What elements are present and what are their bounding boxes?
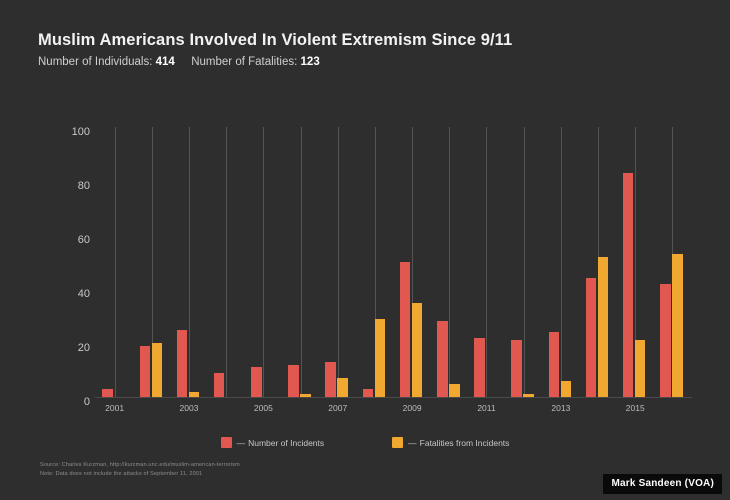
bar-2012-incidents[interactable] [511,340,522,397]
chart-canvas: Muslim Americans Involved In Violent Ext… [0,0,730,500]
x-axis-tick-2003: 2003 [180,404,199,413]
y-axis-tick-80: 80 [78,181,90,192]
y-axis-tick-100: 100 [72,127,90,138]
bar-2013-incidents[interactable] [549,332,560,397]
y-axis-tick-20: 20 [78,343,90,354]
bar-2010-fatalities[interactable] [449,384,460,398]
chart-legend: — Number of Incidents — Fatalities from … [0,437,730,448]
bar-2016-fatalities[interactable] [672,254,683,397]
x-axis-tick-2005: 2005 [254,404,273,413]
x-axis-tick-2007: 2007 [328,404,347,413]
x-axis-tick-2015: 2015 [626,404,645,413]
bar-2009-fatalities[interactable] [412,303,423,398]
source-note: Source: Charles Kurzman, http://kurzman.… [40,461,240,478]
bar-2004-incidents[interactable] [214,373,225,397]
bar-chart: 020406080100 200120032005200720092011201… [0,0,730,500]
y-axis-labels: 020406080100 [45,119,90,405]
x-axis-tick-2009: 2009 [403,404,422,413]
legend-dash: — [408,438,417,448]
x-axis-labels: 20012003200520072009201120132015 [95,402,690,420]
bar-2006-incidents[interactable] [288,365,299,397]
bar-2015-fatalities[interactable] [635,340,646,397]
bar-2005-incidents[interactable] [251,367,262,397]
legend-label-incidents: Number of Incidents [248,438,324,448]
legend-swatch-incidents-icon [221,437,232,448]
plot-area [95,127,690,397]
legend-swatch-fatalities-icon [392,437,403,448]
x-axis-line [95,397,692,398]
bar-2002-fatalities[interactable] [152,343,163,397]
legend-label-fatalities: Fatalities from Incidents [420,438,510,448]
credit-badge: Mark Sandeen (VOA) [603,474,722,494]
bar-2002-incidents[interactable] [140,346,151,397]
bar-2008-fatalities[interactable] [375,319,386,397]
bar-2013-fatalities[interactable] [561,381,572,397]
y-axis-tick-40: 40 [78,289,90,300]
x-axis-tick-2013: 2013 [551,404,570,413]
bar-group-container [95,127,690,397]
data-note-line: Note: Data does not include the attacks … [40,470,240,479]
bar-2010-incidents[interactable] [437,321,448,397]
bar-2014-fatalities[interactable] [598,257,609,397]
bar-2014-incidents[interactable] [586,278,597,397]
bar-2007-fatalities[interactable] [337,378,348,397]
bar-2011-incidents[interactable] [474,338,485,397]
bar-2016-incidents[interactable] [660,284,671,397]
y-axis-tick-0: 0 [84,397,90,408]
legend-dash: — [237,438,246,448]
bar-2009-incidents[interactable] [400,262,411,397]
bar-2008-incidents[interactable] [363,389,374,397]
bar-2003-incidents[interactable] [177,330,188,398]
y-axis-tick-60: 60 [78,235,90,246]
bar-2015-incidents[interactable] [623,173,634,397]
x-axis-tick-2011: 2011 [477,404,495,413]
source-line: Source: Charles Kurzman, http://kurzman.… [40,461,240,470]
bar-2007-incidents[interactable] [325,362,336,397]
legend-item-incidents[interactable]: — Number of Incidents [221,437,325,448]
legend-item-fatalities[interactable]: — Fatalities from Incidents [392,437,509,448]
x-axis-tick-2001: 2001 [105,404,124,413]
bar-2001-incidents[interactable] [102,389,113,397]
